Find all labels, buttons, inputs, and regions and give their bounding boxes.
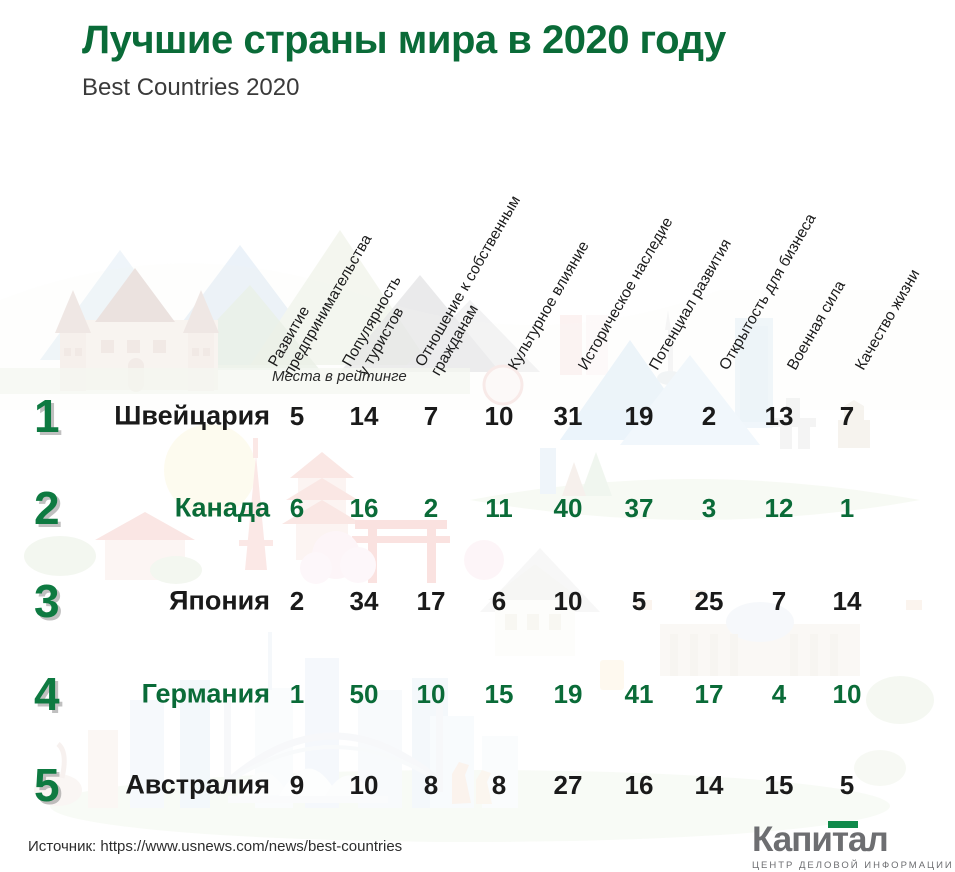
cell-value: 14 — [695, 772, 724, 798]
cell-value: 10 — [554, 588, 583, 614]
rank-number: 3 — [34, 578, 60, 624]
country-name: Канада — [175, 495, 270, 522]
logo-wordmark-text: Капитал — [752, 820, 888, 859]
table-row: 5 Австралия 9 10 8 8 27 16 14 15 5 — [0, 762, 955, 808]
cell-value: 7 — [424, 403, 438, 429]
cell-value: 19 — [625, 403, 654, 429]
cell-value: 3 — [702, 495, 716, 521]
cell-value: 25 — [695, 588, 724, 614]
cell-value: 10 — [417, 681, 446, 707]
cell-value: 1 — [840, 495, 854, 521]
cell-value: 10 — [350, 772, 379, 798]
logo-wordmark: Капитал — [752, 822, 888, 857]
cell-value: 10 — [485, 403, 514, 429]
cell-value: 15 — [485, 681, 514, 707]
cell-value: 4 — [772, 681, 786, 707]
logo-green-bar — [828, 821, 858, 828]
cell-value: 31 — [554, 403, 583, 429]
cell-value: 19 — [554, 681, 583, 707]
cell-value: 7 — [840, 403, 854, 429]
logo-tagline: ЦЕНТР ДЕЛОВОЙ ИНФОРМАЦИИ — [752, 860, 954, 871]
cell-value: 37 — [625, 495, 654, 521]
ranking-table: 1 Швейцария 5 14 7 10 31 19 2 13 7 2 Кан… — [0, 0, 955, 872]
cell-value: 41 — [625, 681, 654, 707]
cell-value: 40 — [554, 495, 583, 521]
source-text: Источник: https://www.usnews.com/news/be… — [28, 838, 402, 855]
table-row: 3 Япония 2 34 17 6 10 5 25 7 14 — [0, 578, 955, 624]
cell-value: 5 — [840, 772, 854, 798]
cell-value: 27 — [554, 772, 583, 798]
cell-value: 15 — [765, 772, 794, 798]
cell-value: 1 — [290, 681, 304, 707]
cell-value: 14 — [833, 588, 862, 614]
country-name: Япония — [169, 588, 270, 615]
cell-value: 6 — [290, 495, 304, 521]
cell-value: 8 — [424, 772, 438, 798]
cell-value: 17 — [695, 681, 724, 707]
cell-value: 16 — [350, 495, 379, 521]
cell-value: 12 — [765, 495, 794, 521]
cell-value: 34 — [350, 588, 379, 614]
cell-value: 11 — [485, 495, 513, 521]
cell-value: 2 — [702, 403, 716, 429]
table-row: 2 Канада 6 16 2 11 40 37 3 12 1 — [0, 485, 955, 531]
table-row: 4 Германия 1 50 10 15 19 41 17 4 10 — [0, 671, 955, 717]
cell-value: 8 — [492, 772, 506, 798]
country-name: Швейцария — [114, 403, 270, 430]
kapital-logo[interactable]: Капитал ЦЕНТР ДЕЛОВОЙ ИНФОРМАЦИИ — [752, 822, 954, 871]
country-name: Германия — [142, 681, 270, 708]
cell-value: 9 — [290, 772, 304, 798]
country-name: Австралия — [125, 772, 270, 799]
cell-value: 13 — [765, 403, 794, 429]
cell-value: 7 — [772, 588, 786, 614]
infographic-page: Лучшие страны мира в 2020 году Best Coun… — [0, 0, 955, 872]
cell-value: 2 — [290, 588, 304, 614]
cell-value: 17 — [417, 588, 446, 614]
rank-number: 4 — [34, 671, 60, 717]
cell-value: 16 — [625, 772, 654, 798]
cell-value: 50 — [350, 681, 379, 707]
rank-number: 2 — [34, 485, 60, 531]
rank-number: 5 — [34, 762, 60, 808]
cell-value: 14 — [350, 403, 379, 429]
table-row: 1 Швейцария 5 14 7 10 31 19 2 13 7 — [0, 393, 955, 439]
cell-value: 5 — [632, 588, 646, 614]
cell-value: 5 — [290, 403, 304, 429]
rank-number: 1 — [34, 393, 60, 439]
cell-value: 10 — [833, 681, 862, 707]
cell-value: 6 — [492, 588, 506, 614]
cell-value: 2 — [424, 495, 438, 521]
